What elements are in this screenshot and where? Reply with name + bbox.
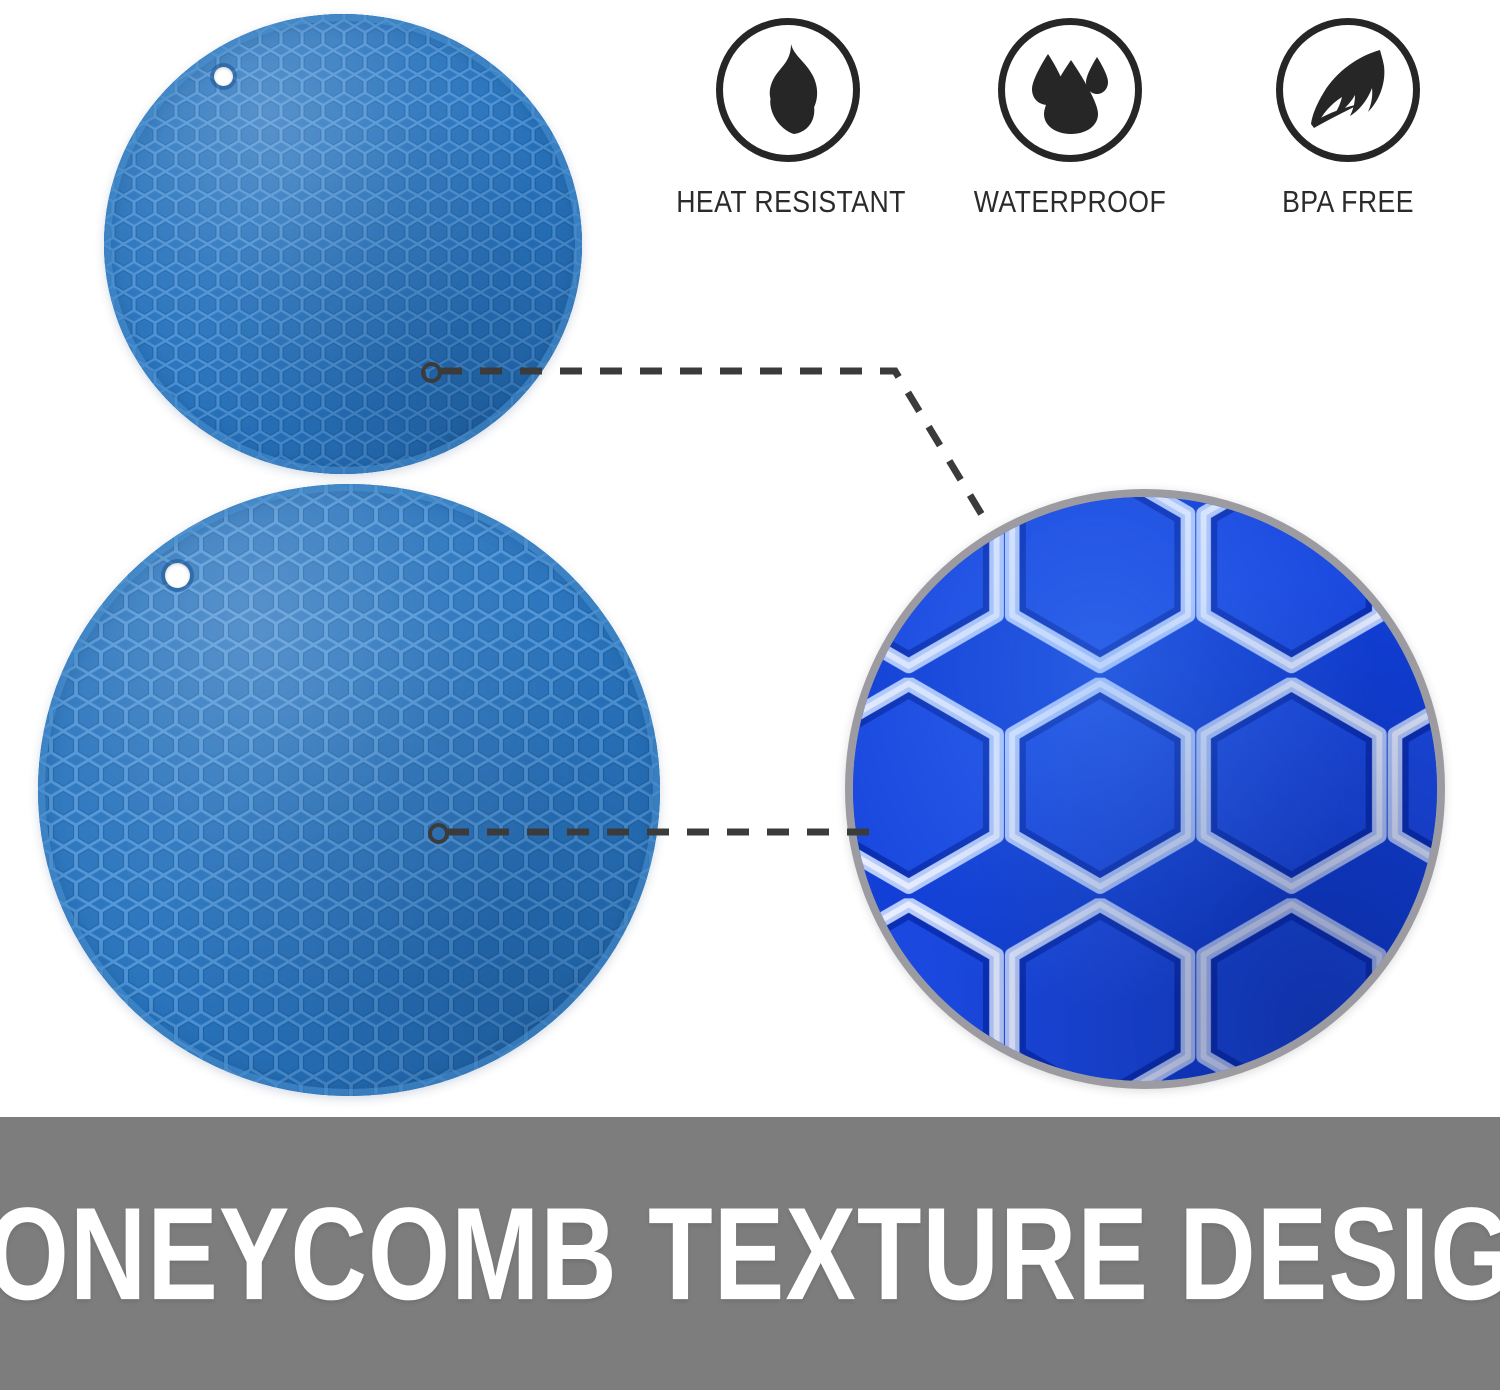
callout-marker-top	[421, 362, 442, 383]
small-round-trivet	[104, 14, 582, 474]
large-round-trivet	[38, 484, 660, 1096]
water-drop-icon	[1024, 44, 1116, 136]
banner-title: HONEYCOMB TEXTURE DESIGN	[0, 1188, 1500, 1320]
hanging-hole	[214, 67, 233, 86]
badge-label: BPA FREE	[1236, 184, 1460, 220]
product-photo-area: HEAT RESISTANT WATERPROOF	[0, 0, 1500, 1117]
callout-marker-bottom	[428, 823, 449, 844]
honeycomb-texture	[38, 484, 660, 1096]
badge-waterproof: WATERPROOF	[940, 18, 1200, 220]
flame-icon	[750, 42, 826, 138]
badge-circle	[716, 18, 860, 162]
badge-circle	[998, 18, 1142, 162]
badge-heat-resistant: HEAT RESISTANT	[658, 18, 918, 220]
honeycomb-macro-texture	[845, 489, 1445, 1089]
badge-label: WATERPROOF	[958, 184, 1182, 220]
bottom-banner: HONEYCOMB TEXTURE DESIGN	[0, 1117, 1500, 1390]
badge-circle	[1276, 18, 1420, 162]
product-infographic: HEAT RESISTANT WATERPROOF	[0, 0, 1500, 1390]
feature-badges: HEAT RESISTANT WATERPROOF	[640, 18, 1480, 258]
honeycomb-closeup-magnifier	[845, 489, 1445, 1089]
feather-icon	[1300, 42, 1396, 138]
badge-bpa-free: BPA FREE	[1218, 18, 1478, 220]
hanging-hole	[165, 563, 190, 588]
honeycomb-texture	[104, 14, 582, 474]
badge-label: HEAT RESISTANT	[676, 184, 900, 220]
